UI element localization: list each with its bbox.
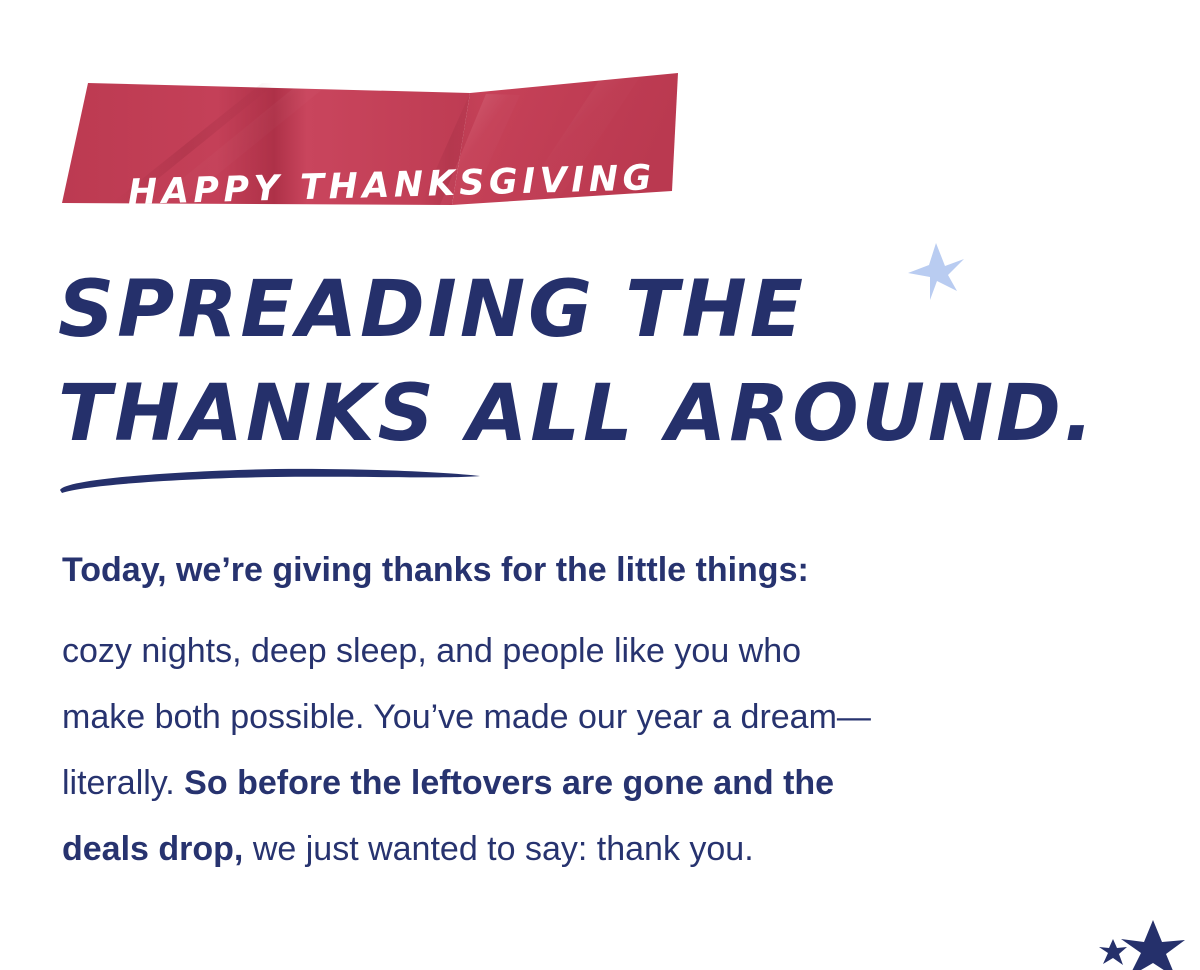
headline-line-1: SPREADING THE [58,258,1178,362]
body-paragraph-line: literally. So before the leftovers are g… [62,750,1142,816]
headline: SPREADING THE THANKS ALL AROUND. [58,258,1178,466]
body-lede: Today, we’re giving thanks for the littl… [62,548,1142,592]
body-text-regular: cozy nights, deep sleep, and people like… [62,632,801,670]
body-text-regular: make both possible. You’ve made our year… [62,698,871,736]
body-copy: Today, we’re giving thanks for the littl… [62,548,1142,882]
thanksgiving-tape-banner: HAPPY THANKSGIVING [0,55,720,230]
email-canvas: HAPPY THANKSGIVING SPREADING THE THANKS … [0,0,1200,970]
body-paragraph: cozy nights, deep sleep, and people like… [62,618,1142,882]
body-paragraph-line: deals drop, we just wanted to say: thank… [62,816,1142,882]
star-icon [905,240,967,302]
body-text-regular: we just wanted to say: thank you. [243,830,753,868]
star-icon [1098,938,1128,966]
star-icon [1119,918,1187,970]
headline-line-2: THANKS ALL AROUND. [58,362,1178,466]
hand-drawn-underline-icon [56,463,486,497]
headline-line-2-rest: ALL AROUND. [437,369,1097,459]
headline-emphasis-thanks: THANKS [58,369,437,459]
body-text-bold: deals drop, [62,830,243,868]
body-paragraph-line: make both possible. You’ve made our year… [62,684,1142,750]
body-text-regular: literally. [62,764,184,802]
body-text-bold: So before the leftovers are gone and the [184,764,834,802]
body-paragraph-line: cozy nights, deep sleep, and people like… [62,618,1142,684]
